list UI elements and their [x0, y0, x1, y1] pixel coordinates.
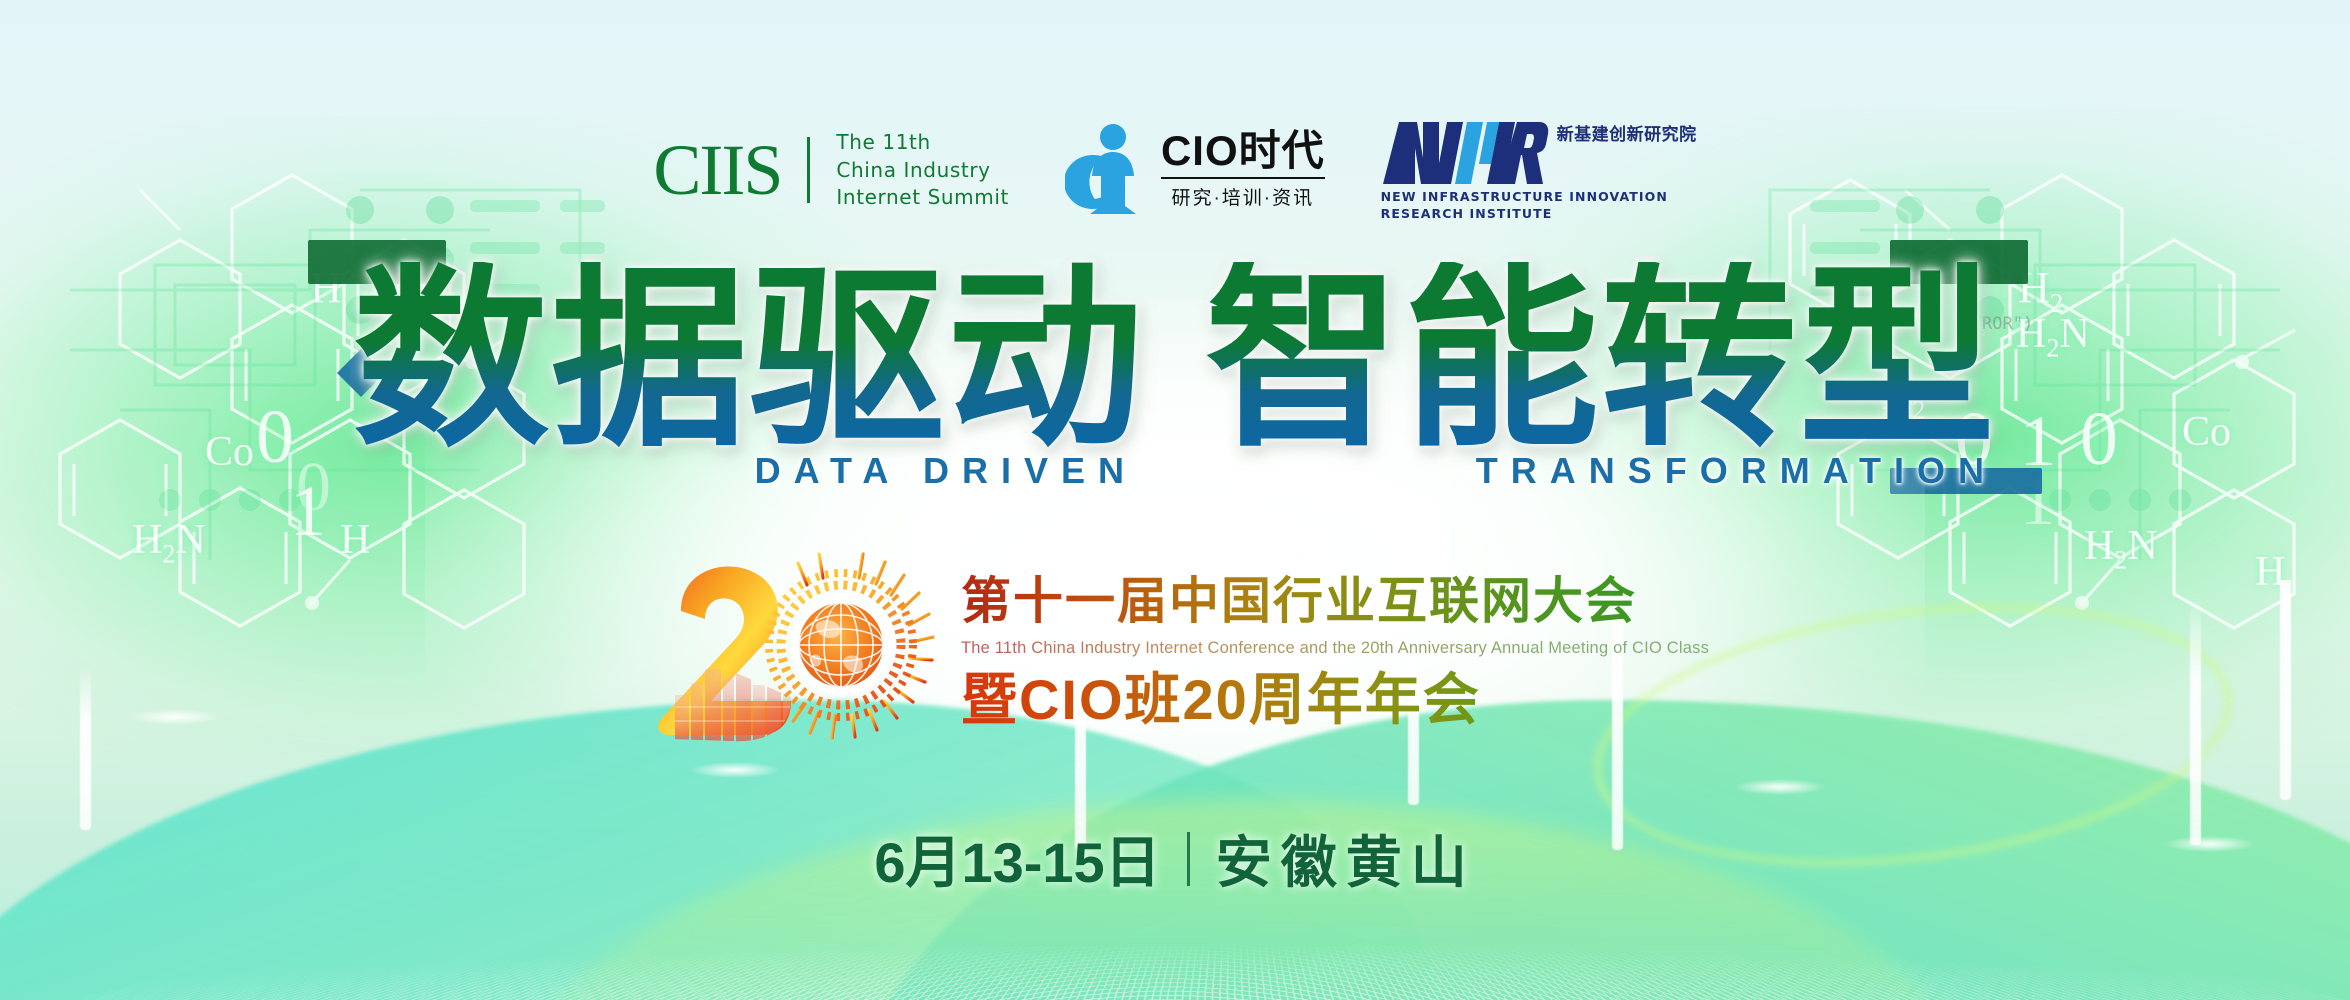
ciis-wordmark: CIIS	[653, 134, 781, 206]
emblem-globe-icon	[799, 603, 883, 687]
conference-text: 第十一届中国行业互联网大会 The 11th China Industry In…	[961, 573, 1709, 731]
event-venue: 安徽黄山	[1216, 818, 1476, 899]
cio-person-icon	[1065, 122, 1151, 218]
cio-tagline: 研究·培训·资讯	[1171, 183, 1314, 210]
cio-divider	[1161, 177, 1325, 179]
conference-title-block: 第十一届中国行业互联网大会 The 11th China Industry In…	[0, 545, 2350, 760]
cio-text-block: CIO时代 研究·培训·资讯	[1161, 130, 1325, 210]
headline-right-group: 智能转型 TRANSFORMATION	[1205, 262, 1997, 492]
niiri-en-line-2: RESEARCH INSTITUTE	[1381, 206, 1668, 223]
niiri-top-row: 新基建创新研究院	[1381, 118, 1697, 186]
logo-ciis[interactable]: CIIS The 11th China Industry Internet Su…	[653, 130, 1009, 211]
event-date: 6月13-15日	[874, 818, 1160, 899]
ciis-divider	[807, 137, 810, 203]
date-venue-bar: 6月13-15日 安徽黄山	[0, 818, 2350, 899]
conference-subtitle-cn: 暨CIO班20周年年会	[961, 669, 1709, 732]
ciis-line-1: The 11th	[836, 130, 1009, 156]
niiri-english-name: NEW INFRASTRUCTURE INNOVATION RESEARCH I…	[1381, 189, 1668, 223]
dotted-wave-mesh	[0, 933, 2350, 1000]
anniversary-emblem-svg	[641, 545, 941, 760]
date-venue-divider	[1187, 832, 1190, 886]
headline-cn-left: 数据驱动	[353, 262, 1145, 458]
logo-niiri[interactable]: 新基建创新研究院 NEW INFRASTRUCTURE INNOVATION R…	[1381, 118, 1697, 223]
headline-left-group: 数据驱动 DATA DRIVEN	[353, 262, 1145, 492]
ciis-tagline: The 11th China Industry Internet Summit	[836, 130, 1009, 211]
niiri-chinese-name: 新基建创新研究院	[1557, 120, 1697, 145]
logo-row: CIIS The 11th China Industry Internet Su…	[0, 118, 2350, 223]
spark-2	[690, 762, 780, 778]
spark-3	[1735, 779, 1825, 795]
conference-title-cn: 第十一届中国行业互联网大会	[961, 573, 1709, 629]
conference-title-en: The 11th China Industry Internet Confere…	[961, 636, 1709, 661]
conference-banner: H Co H2N H H2 H2N H2 Co H2N H 0 0 1 0 1 …	[0, 0, 2350, 1000]
anniversary-emblem-20	[641, 545, 941, 760]
logo-cio-shidai[interactable]: CIO时代 研究·培训·资讯	[1065, 122, 1325, 218]
headline-cn-right: 智能转型	[1205, 262, 1997, 458]
main-headline: 数据驱动 DATA DRIVEN 智能转型 TRANSFORMATION	[0, 262, 2350, 492]
ciis-line-3: Internet Summit	[836, 185, 1009, 211]
niiri-wordmark-icon	[1381, 118, 1549, 186]
niiri-en-line-1: NEW INFRASTRUCTURE INNOVATION	[1381, 189, 1668, 206]
ciis-line-2: China Industry	[836, 158, 1009, 184]
cio-wordmark: CIO时代	[1161, 130, 1325, 172]
